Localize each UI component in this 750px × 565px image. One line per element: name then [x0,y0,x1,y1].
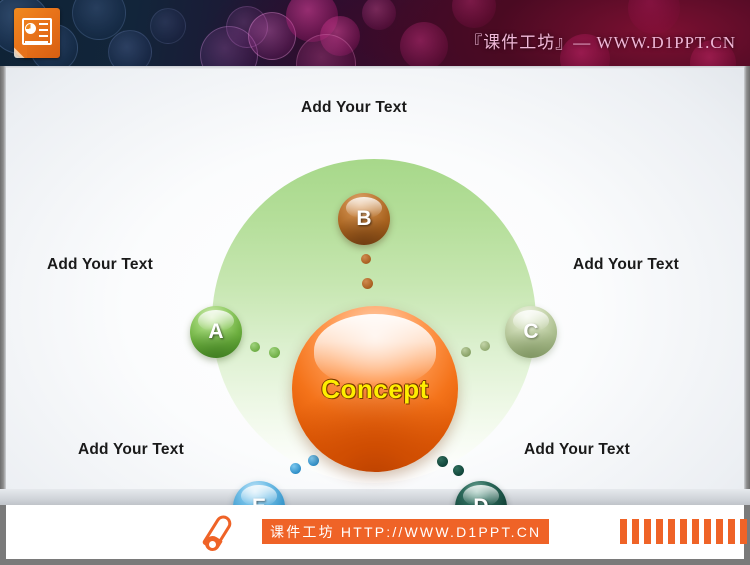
barcode-bar [716,519,723,544]
bokeh-circle [400,22,448,66]
footer-url-banner[interactable]: 课件工坊 HTTP://WWW.D1PPT.CN [262,519,549,544]
bokeh-circle [200,26,258,66]
node-a[interactable]: A [190,306,242,358]
node-d-letter: D [455,481,507,505]
logo-text-line [39,35,48,37]
caption-node-c[interactable]: Add Your Text [573,256,679,274]
center-concept-sphere[interactable]: Concept [292,306,458,472]
barcode-bar [728,519,735,544]
barcode-bar [740,519,747,544]
connector-dot-c [480,341,490,351]
slide-bottom-border [0,489,750,505]
logo-text-line [39,23,48,25]
barcode-bar [656,519,663,544]
bokeh-circle [286,0,338,42]
barcode-bar [632,519,639,544]
presentation-slide: 『课件工坊』— WWW.D1PPT.CN Concept [0,0,750,565]
barcode-bar [620,519,627,544]
connector-dot-a [269,347,280,358]
powerpoint-document-icon [14,8,60,58]
node-b-letter: B [338,193,390,245]
bokeh-circle [452,0,496,28]
pencil-icon [204,512,248,552]
node-e-letter: E [233,481,285,505]
footer-url-text: 课件工坊 HTTP://WWW.D1PPT.CN [270,522,541,542]
node-c[interactable]: C [505,306,557,358]
barcode-bar [692,519,699,544]
bokeh-circle [320,16,360,56]
bokeh-circle [150,8,186,44]
slide-canvas: Concept A B C D E Add Your Text Add [0,66,750,505]
logo-corner-fold [14,45,27,58]
node-e[interactable]: E [233,481,285,505]
bokeh-circle [72,0,126,40]
barcode-bar [644,519,651,544]
caption-node-e[interactable]: Add Your Text [78,441,184,459]
pencil-nib [209,541,216,548]
connector-dot-b [361,254,371,264]
node-c-letter: C [505,306,557,358]
slide-left-border [0,66,6,505]
connector-dot-a [250,342,260,352]
slide-top-highlight [0,66,750,69]
connector-dot-c [461,347,471,357]
node-b[interactable]: B [338,193,390,245]
barcode-decoration [620,519,747,544]
caption-node-a[interactable]: Add Your Text [47,256,153,274]
barcode-bar [704,519,711,544]
bokeh-circle [108,30,152,66]
barcode-bar [668,519,675,544]
center-concept-label: Concept [292,306,458,472]
barcode-bar [680,519,687,544]
caption-node-d[interactable]: Add Your Text [524,441,630,459]
slide-right-border [744,66,750,505]
logo-pie-chart [25,23,36,34]
caption-node-b[interactable]: Add Your Text [301,99,407,117]
bokeh-circle [248,12,296,60]
header-title: 『课件工坊』— WWW.D1PPT.CN [465,28,736,53]
node-a-letter: A [190,306,242,358]
bokeh-circle [362,0,396,30]
connector-dot-b [362,278,373,289]
node-d[interactable]: D [455,481,507,505]
header-banner: 『课件工坊』— WWW.D1PPT.CN [0,0,750,66]
logo-text-line [25,41,48,43]
bokeh-circle [226,6,268,48]
bokeh-circle [296,34,356,66]
logo-text-line [39,29,48,31]
